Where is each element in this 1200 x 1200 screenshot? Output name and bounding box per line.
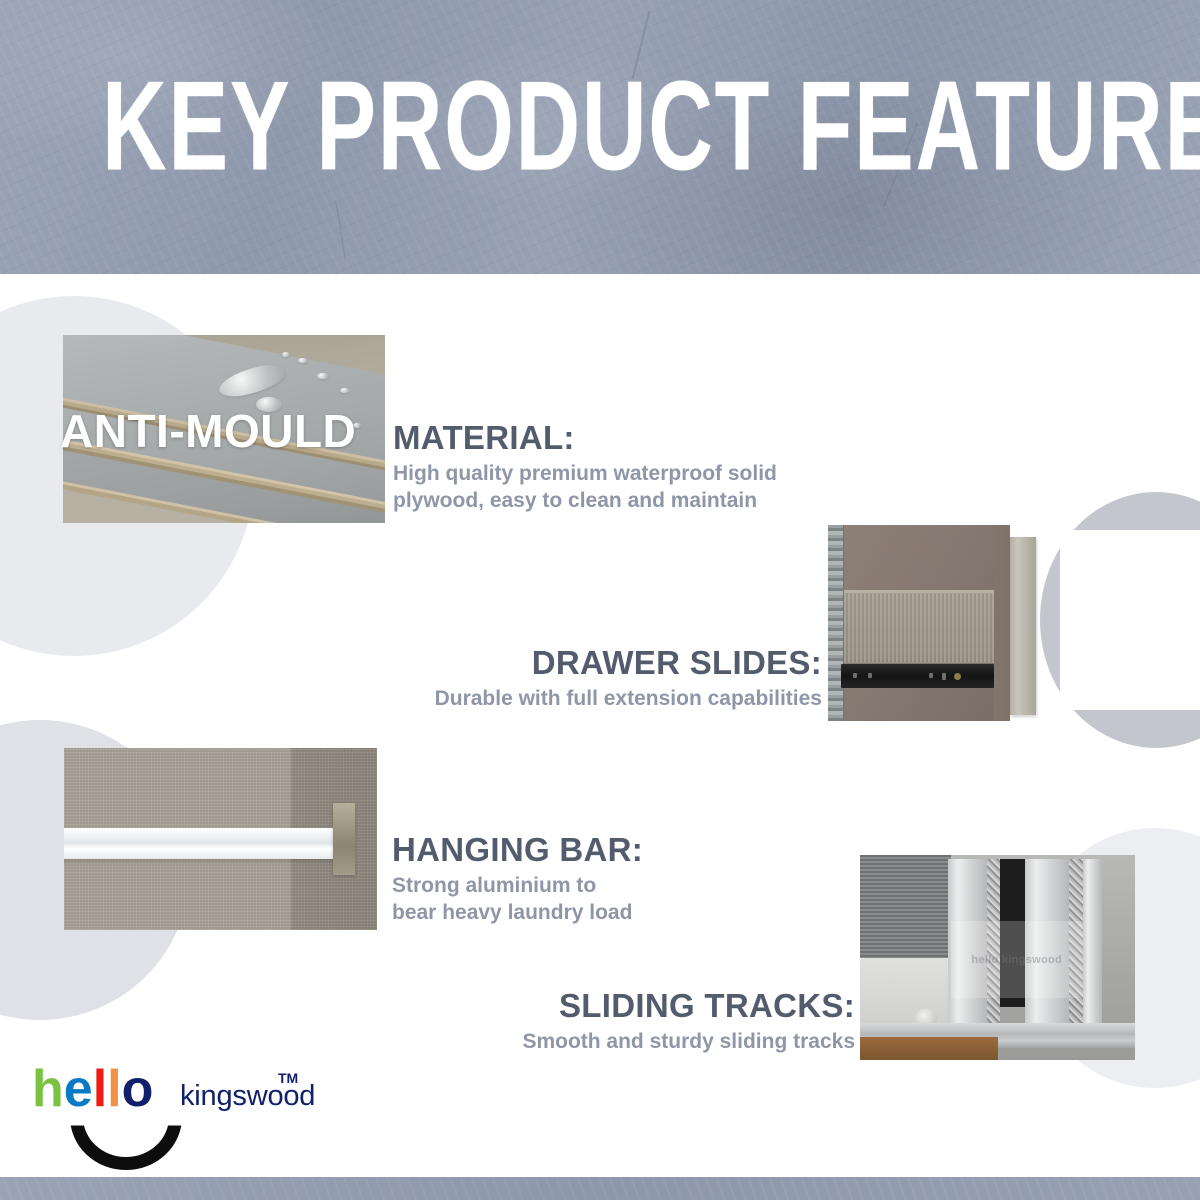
- page-title: KEY PRODUCT FEATURES: [102, 62, 1098, 189]
- feature-drawer-slides: DRAWER SLIDES: Durable with full extensi…: [362, 645, 822, 713]
- aluminium-rod: [64, 828, 346, 859]
- water-droplet: [298, 358, 308, 364]
- sliding-track-photo: hello kingswood: [860, 855, 1135, 1060]
- footer-bar: [0, 1177, 1200, 1200]
- drawer-slide-photo: [828, 525, 1010, 721]
- feature-material-body-line1: High quality premium waterproof solid: [393, 461, 823, 488]
- drawer-cabinet-edge: [828, 525, 843, 721]
- water-droplet: [340, 388, 350, 394]
- logo-letter-o: o: [122, 1067, 154, 1112]
- decor-white-block-drawer: [1060, 530, 1200, 710]
- logo-letter-l-red: l: [93, 1067, 107, 1112]
- feature-sliding-tracks-heading: SLIDING TRACKS:: [470, 988, 855, 1025]
- track-background-wall: [860, 855, 951, 974]
- drawer-front-panel: [1010, 537, 1036, 715]
- logo-hello-wordmark: h e l l o: [32, 1066, 153, 1112]
- water-droplet: [317, 373, 328, 380]
- sliding-door-leaf: [1083, 859, 1102, 1027]
- anti-mould-overlay-label: ANTI-MOULD: [60, 404, 356, 458]
- logo-letter-e: e: [64, 1067, 93, 1112]
- image-watermark: hello kingswood: [951, 921, 1083, 999]
- feature-hanging-bar-body-line2: bear heavy laundry load: [392, 900, 722, 927]
- feature-drawer-slides-heading: DRAWER SLIDES:: [362, 645, 822, 682]
- feature-drawer-slides-body: Durable with full extension capabilities: [362, 686, 822, 713]
- feature-sliding-tracks-body: Smooth and sturdy sliding tracks: [470, 1029, 855, 1056]
- infographic-page: KEY PRODUCT FEATURES ANTI-MOULD MATERIAL…: [0, 0, 1200, 1200]
- feature-drawer-slides-body-line1: Durable with full extension capabilities: [362, 686, 822, 713]
- wooden-floor-edge: [860, 1037, 998, 1060]
- drawer-slide-rail: [841, 664, 994, 688]
- brand-logo[interactable]: h e l l o kingswood TM: [32, 1066, 302, 1156]
- hanging-bar-photo: [64, 748, 377, 930]
- feature-hanging-bar-body: Strong aluminium to bear heavy laundry l…: [392, 873, 722, 927]
- drawer-box-side: [844, 590, 993, 664]
- track-white-panel: [860, 958, 951, 1028]
- logo-trademark-symbol: TM: [278, 1070, 298, 1086]
- feature-material-body: High quality premium waterproof solid pl…: [393, 461, 823, 515]
- feature-hanging-bar-body-line1: Strong aluminium to: [392, 873, 722, 900]
- water-droplet: [282, 352, 290, 357]
- feature-sliding-tracks: SLIDING TRACKS: Smooth and sturdy slidin…: [470, 988, 855, 1056]
- header-banner: KEY PRODUCT FEATURES: [0, 0, 1200, 274]
- feature-hanging-bar-heading: HANGING BAR:: [392, 832, 722, 869]
- feature-sliding-tracks-body-line1: Smooth and sturdy sliding tracks: [470, 1029, 855, 1056]
- feature-material-heading: MATERIAL:: [393, 420, 823, 457]
- feature-material-body-line2: plywood, easy to clean and maintain: [393, 488, 823, 515]
- logo-smile-icon: [70, 1122, 182, 1170]
- feature-hanging-bar: HANGING BAR: Strong aluminium to bear he…: [392, 832, 722, 927]
- feature-material: MATERIAL: High quality premium waterproo…: [393, 420, 823, 515]
- rod-bracket: [333, 803, 355, 876]
- logo-letter-l-orange: l: [107, 1067, 121, 1112]
- logo-letter-h: h: [32, 1067, 64, 1112]
